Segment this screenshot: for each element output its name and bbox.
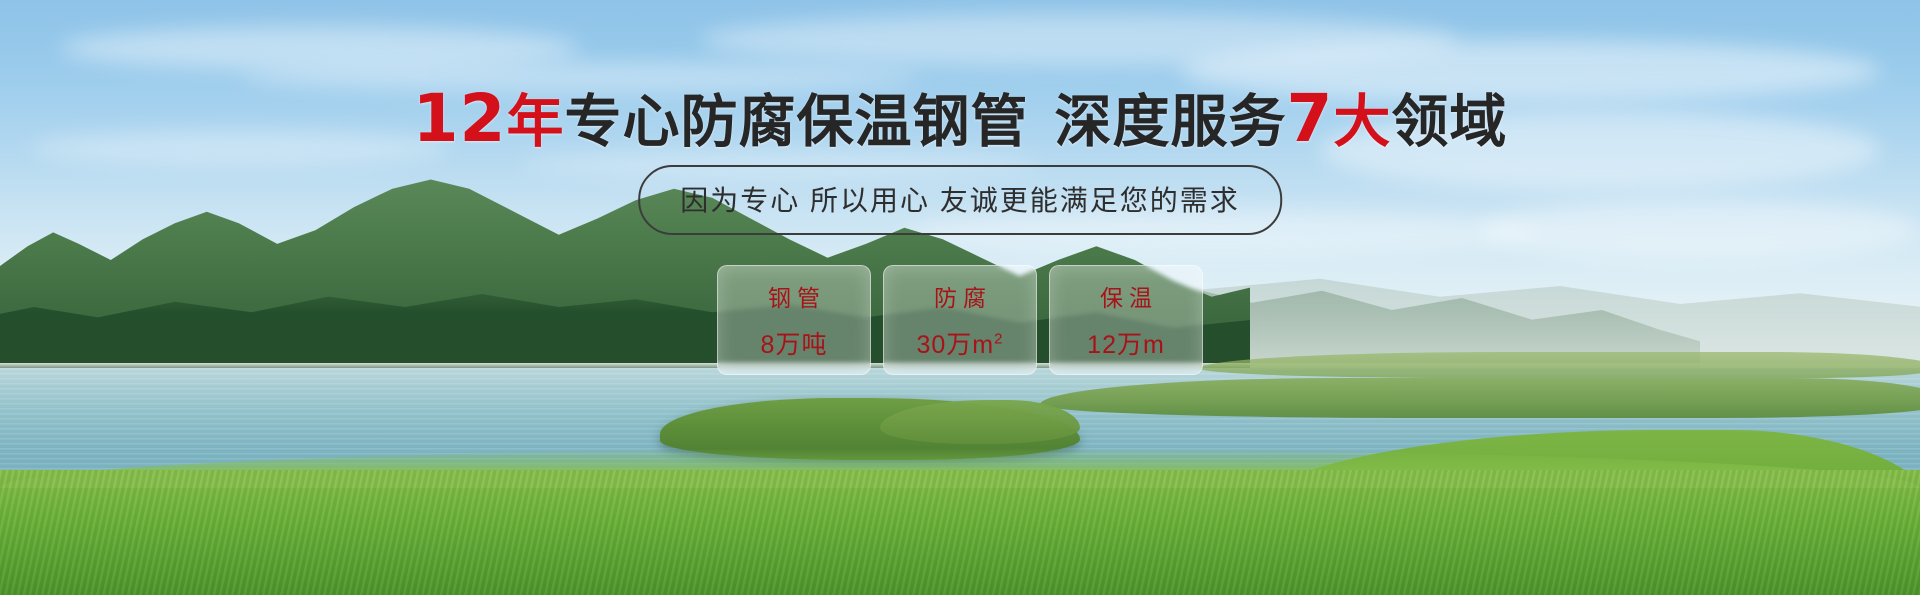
subtitle-pill: 因为专心 所以用心 友诚更能满足您的需求	[638, 165, 1282, 235]
stat-card-value: 30万m2	[917, 325, 1004, 361]
headline-segment-two: 深度服务	[1054, 89, 1286, 155]
subtitle-text: 因为专心 所以用心 友诚更能满足您的需求	[680, 185, 1240, 216]
headline-years-number: 12	[413, 80, 507, 157]
stat-card-insulation[interactable]: 保温 12万m	[1049, 265, 1203, 375]
stat-card-value-text: 12万m	[1087, 331, 1165, 359]
stat-card-value-text: 30万m	[917, 331, 995, 359]
headline: 12年专心防腐保温钢管深度服务7大领域	[0, 86, 1920, 152]
stat-card-value-exponent: 2	[994, 331, 1003, 348]
stat-card-value: 8万吨	[761, 325, 828, 361]
stat-card-value-text: 8万吨	[761, 331, 828, 359]
marsh-strip	[1040, 378, 1920, 418]
headline-segment-three: 领域	[1391, 89, 1507, 155]
headline-segment-one: 专心防腐保温钢管	[564, 89, 1028, 155]
stat-card-value: 12万m	[1087, 325, 1165, 361]
foreground-grass	[0, 470, 1920, 595]
stat-card-title: 防腐	[928, 279, 992, 313]
headline-fields-unit: 大	[1333, 89, 1391, 155]
stat-card-anticorrosion[interactable]: 防腐 30万m2	[883, 265, 1037, 375]
stat-card-row: 钢管 8万吨 防腐 30万m2 保温 12万m	[717, 265, 1203, 375]
stat-card-steel-pipe[interactable]: 钢管 8万吨	[717, 265, 871, 375]
marsh-strip	[1200, 352, 1920, 378]
stat-card-title: 保温	[1094, 279, 1158, 313]
headline-years-unit: 年	[506, 89, 564, 155]
stat-card-title: 钢管	[762, 279, 826, 313]
headline-fields-number: 7	[1286, 80, 1333, 157]
hero-banner: 12年专心防腐保温钢管深度服务7大领域 因为专心 所以用心 友诚更能满足您的需求…	[0, 0, 1920, 595]
